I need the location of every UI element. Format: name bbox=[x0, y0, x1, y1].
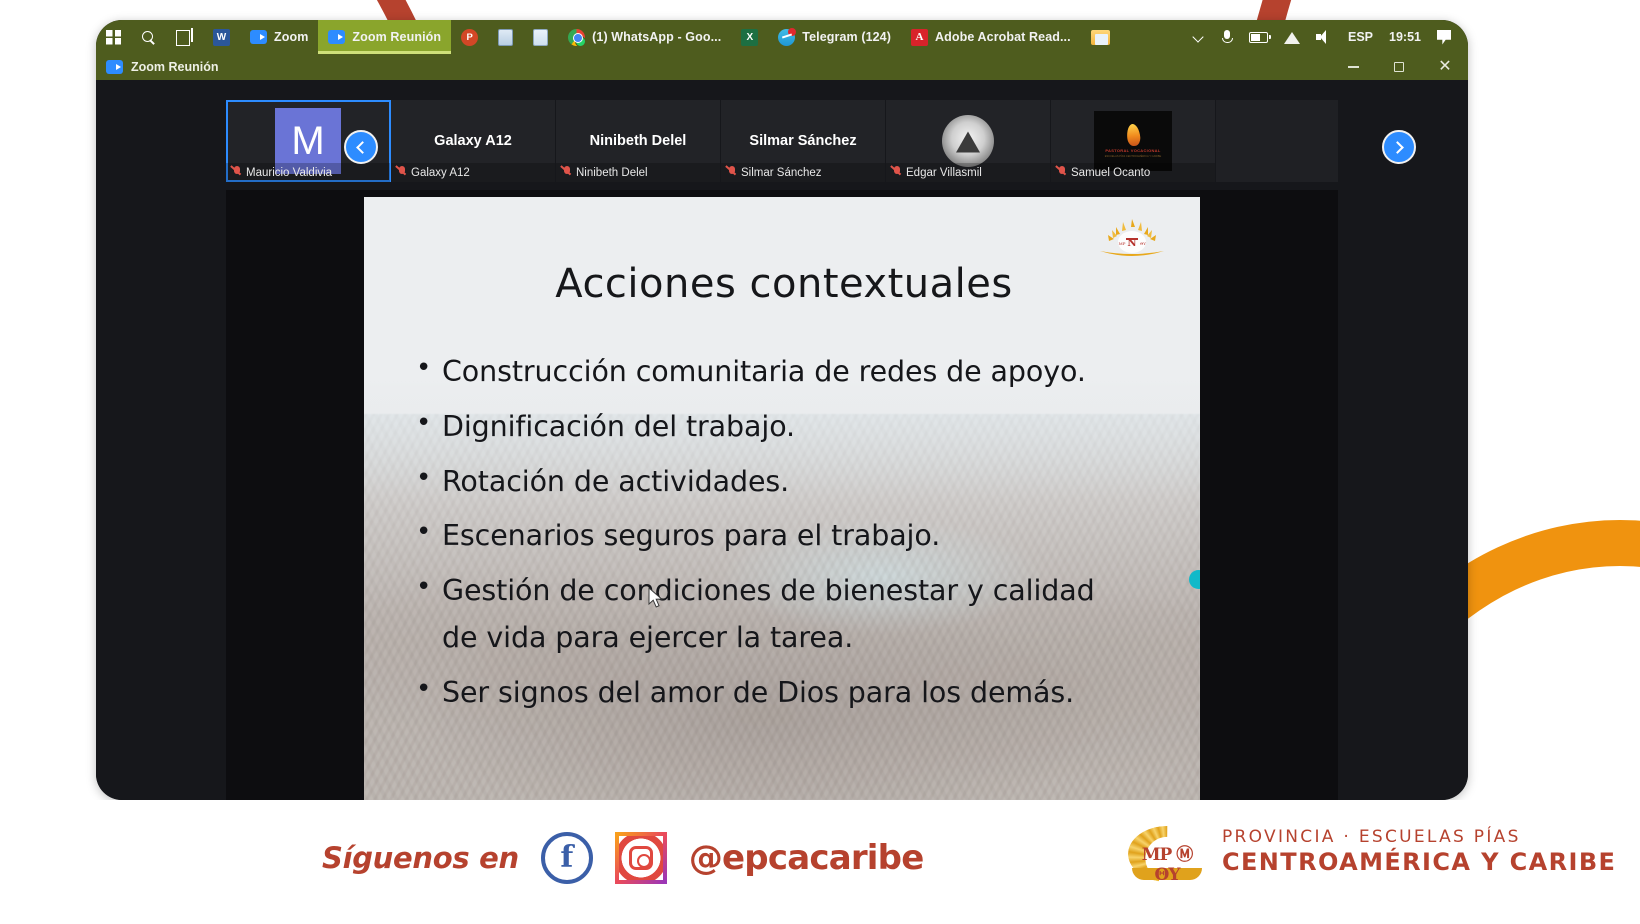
slide-bullet-list: Construcción comunitaria de redes de apo… bbox=[398, 351, 1170, 714]
window-title-group: Zoom Reunión bbox=[96, 60, 219, 74]
telegram-icon bbox=[778, 29, 795, 46]
participant-header-name: Galaxy A12 bbox=[428, 133, 518, 149]
close-button[interactable]: ✕ bbox=[1422, 54, 1468, 80]
speaker-icon bbox=[1316, 30, 1332, 44]
zoom-meeting-body: M Mauricio Valdivia Galaxy A12 Galaxy A1… bbox=[96, 80, 1468, 800]
system-tray: ESP 19:51 bbox=[1185, 20, 1468, 54]
task-view-icon bbox=[176, 30, 193, 44]
svg-text:MP: MP bbox=[1119, 241, 1126, 246]
wifi-icon bbox=[1284, 31, 1300, 44]
screen-capture-card: W Zoom Zoom Reunión P (1) WhatsApp - Goo… bbox=[96, 20, 1468, 800]
clock-label: 19:51 bbox=[1389, 30, 1421, 44]
calculator-icon bbox=[498, 29, 513, 46]
tray-battery[interactable] bbox=[1242, 20, 1275, 54]
close-icon: ✕ bbox=[1438, 59, 1451, 75]
window-controls: ✕ bbox=[1330, 54, 1468, 80]
taskbar-item-zoom[interactable]: Zoom bbox=[240, 20, 318, 54]
zoom-icon bbox=[250, 30, 267, 44]
facebook-icon[interactable]: f bbox=[541, 832, 593, 884]
taskbar-item-label: Zoom Reunión bbox=[352, 30, 441, 44]
organization-line-1: PROVINCIA · ESCUELAS PÍAS bbox=[1222, 827, 1616, 847]
zoom-icon bbox=[106, 60, 123, 74]
participant-footer: Ninibeth Delel bbox=[556, 163, 720, 182]
participant-footer: Edgar Villasmil bbox=[886, 163, 1050, 182]
file-explorer-icon bbox=[1091, 30, 1110, 45]
svg-text:N: N bbox=[1127, 238, 1136, 249]
taskbar-item-whatsapp[interactable]: (1) WhatsApp - Goo... bbox=[558, 20, 731, 54]
shared-screen-stage: N MP ΘΥ Acciones contextuales Construcci… bbox=[226, 190, 1338, 800]
chrome-whatsapp-icon bbox=[568, 29, 585, 46]
organization-name-lines: PROVINCIA · ESCUELAS PÍAS CENTROAMÉRICA … bbox=[1222, 827, 1616, 876]
tray-language[interactable]: ESP bbox=[1341, 20, 1380, 54]
participant-tile[interactable]: Galaxy A12 Galaxy A12 bbox=[391, 100, 556, 182]
tray-volume[interactable] bbox=[1309, 20, 1339, 54]
escuelas-pias-crest-icon: N MP ΘΥ bbox=[1086, 211, 1178, 259]
task-view-button[interactable] bbox=[166, 20, 203, 54]
windows-taskbar: W Zoom Zoom Reunión P (1) WhatsApp - Goo… bbox=[96, 20, 1468, 54]
start-button[interactable] bbox=[96, 20, 131, 54]
organization-logo: MP Ⓜ ΘΥ PROVINCIA · ESCUELAS PÍAS CENTRO… bbox=[1128, 822, 1616, 880]
flame-icon bbox=[1125, 123, 1140, 146]
participant-header-name: Silmar Sánchez bbox=[743, 133, 862, 149]
taskbar-item-powerpoint[interactable]: P bbox=[451, 20, 488, 54]
chevron-up-icon bbox=[1192, 31, 1204, 43]
follow-us-label: Síguenos en bbox=[322, 841, 519, 875]
chevron-left-icon bbox=[356, 141, 369, 154]
taskbar-item-word[interactable]: W bbox=[203, 20, 240, 54]
slide-content: Acciones contextuales Construcción comun… bbox=[364, 197, 1200, 714]
taskbar-item-calculator[interactable] bbox=[488, 20, 523, 54]
escuelas-pias-crest-icon: MP Ⓜ ΘΥ bbox=[1128, 822, 1206, 880]
photo-avatar: PASTORAL VOCACIONAL ESCUELAS PÍAS CENTRO… bbox=[1094, 111, 1172, 171]
muted-microphone-icon bbox=[892, 166, 902, 179]
language-indicator: ESP bbox=[1348, 30, 1373, 44]
crest-monogram: MP Ⓜ ΘΥ bbox=[1128, 840, 1206, 885]
zoom-window-titlebar: Zoom Reunión ✕ bbox=[96, 54, 1468, 80]
muted-microphone-icon bbox=[232, 166, 242, 179]
filmstrip-prev-button[interactable] bbox=[344, 130, 378, 164]
battery-icon bbox=[1249, 32, 1268, 43]
participant-footer: Mauricio Valdivia bbox=[226, 163, 390, 182]
slide-bullet: Ser signos del amor de Dios para los dem… bbox=[442, 672, 1170, 715]
taskbar-item-file-explorer[interactable] bbox=[1081, 20, 1120, 54]
logo-avatar bbox=[942, 115, 994, 167]
participant-filmstrip: M Mauricio Valdivia Galaxy A12 Galaxy A1… bbox=[226, 100, 1338, 182]
zoom-icon bbox=[328, 30, 345, 44]
notifications-icon bbox=[1437, 30, 1451, 45]
slide-bullet-continuation: de vida para ejercer la tarea. bbox=[442, 617, 1170, 660]
taskbar-item-excel[interactable]: X bbox=[731, 20, 768, 54]
filmstrip-next-button[interactable] bbox=[1382, 130, 1416, 164]
tray-notifications[interactable] bbox=[1430, 20, 1458, 54]
participant-footer: Silmar Sánchez bbox=[721, 163, 885, 182]
slide-title: Acciones contextuales bbox=[398, 261, 1170, 307]
muted-microphone-icon bbox=[397, 166, 407, 179]
participant-tile[interactable]: Edgar Villasmil bbox=[886, 100, 1051, 182]
word-icon: W bbox=[213, 29, 230, 46]
social-handle: @epcacaribe bbox=[689, 838, 924, 878]
taskbar-item-acrobat[interactable]: A Adobe Acrobat Read... bbox=[901, 20, 1081, 54]
avatar-logo-subcaption: ESCUELAS PÍAS CENTROAMÉRICA Y CARIBE bbox=[1105, 155, 1162, 158]
participant-tile[interactable]: Ninibeth Delel Ninibeth Delel bbox=[556, 100, 721, 182]
taskbar-item-label: Adobe Acrobat Read... bbox=[935, 30, 1071, 44]
follow-us-group: Síguenos en f @epcacaribe bbox=[322, 832, 923, 884]
chevron-right-icon bbox=[1391, 141, 1404, 154]
taskbar-item-label: Telegram (124) bbox=[802, 30, 891, 44]
participant-header-name: Ninibeth Delel bbox=[584, 133, 693, 149]
window-title: Zoom Reunión bbox=[131, 60, 219, 74]
brand-footer-bar: Síguenos en f @epcacaribe MP Ⓜ ΘΥ PROVIN… bbox=[0, 800, 1640, 924]
organization-line-2: CENTROAMÉRICA Y CARIBE bbox=[1222, 848, 1616, 876]
svg-text:ΘΥ: ΘΥ bbox=[1140, 241, 1146, 246]
tray-clock[interactable]: 19:51 bbox=[1382, 20, 1428, 54]
microphone-icon bbox=[1220, 30, 1233, 45]
participant-name: Mauricio Valdivia bbox=[246, 167, 332, 179]
excel-icon: X bbox=[741, 29, 758, 46]
restore-icon bbox=[1394, 62, 1404, 72]
participant-name: Galaxy A12 bbox=[411, 167, 470, 179]
taskbar-item-label: Zoom bbox=[274, 30, 308, 44]
taskbar-item-notepad[interactable] bbox=[523, 20, 558, 54]
participant-name: Silmar Sánchez bbox=[741, 167, 822, 179]
participant-name: Ninibeth Delel bbox=[576, 167, 648, 179]
tray-network[interactable] bbox=[1277, 20, 1307, 54]
slide-bullet: Gestión de condiciones de bienestar y ca… bbox=[442, 570, 1170, 613]
taskbar-item-zoom-reunion[interactable]: Zoom Reunión bbox=[318, 20, 451, 54]
presentation-slide: N MP ΘΥ Acciones contextuales Construcci… bbox=[364, 197, 1200, 800]
slide-bullet: Rotación de actividades. bbox=[442, 461, 1170, 504]
search-icon bbox=[141, 30, 156, 45]
muted-microphone-icon bbox=[562, 166, 572, 179]
muted-microphone-icon bbox=[1057, 166, 1067, 179]
slide-bullet: Escenarios seguros para el trabajo. bbox=[442, 515, 1170, 558]
muted-microphone-icon bbox=[727, 166, 737, 179]
mouse-pointer-icon bbox=[648, 587, 665, 610]
minimize-icon bbox=[1348, 66, 1359, 68]
restore-button[interactable] bbox=[1376, 54, 1422, 80]
notepad-icon bbox=[533, 29, 548, 46]
participant-footer: Galaxy A12 bbox=[391, 163, 555, 182]
participant-name: Edgar Villasmil bbox=[906, 167, 982, 179]
acrobat-icon: A bbox=[911, 29, 928, 46]
slide-bullet: Dignificación del trabajo. bbox=[442, 406, 1170, 449]
slide-bullet: Construcción comunitaria de redes de apo… bbox=[442, 351, 1170, 394]
powerpoint-icon: P bbox=[461, 29, 478, 46]
taskbar-item-label: (1) WhatsApp - Goo... bbox=[592, 30, 721, 44]
facebook-glyph: f bbox=[560, 843, 573, 873]
taskbar-item-telegram[interactable]: Telegram (124) bbox=[768, 20, 901, 54]
windows-icon bbox=[106, 30, 121, 45]
taskbar-search-button[interactable] bbox=[131, 20, 166, 54]
tray-microphone[interactable] bbox=[1213, 20, 1240, 54]
participant-tile[interactable]: Silmar Sánchez Silmar Sánchez bbox=[721, 100, 886, 182]
instagram-glyph bbox=[629, 846, 653, 870]
participant-name: Samuel Ocanto bbox=[1071, 167, 1150, 179]
minimize-button[interactable] bbox=[1330, 54, 1376, 80]
participant-tile[interactable]: PASTORAL VOCACIONAL ESCUELAS PÍAS CENTRO… bbox=[1051, 100, 1216, 182]
tray-overflow-button[interactable] bbox=[1185, 20, 1211, 54]
avatar-logo-caption: PASTORAL VOCACIONAL bbox=[1105, 148, 1160, 153]
instagram-icon[interactable] bbox=[615, 832, 667, 884]
participant-footer: Samuel Ocanto bbox=[1051, 163, 1215, 182]
